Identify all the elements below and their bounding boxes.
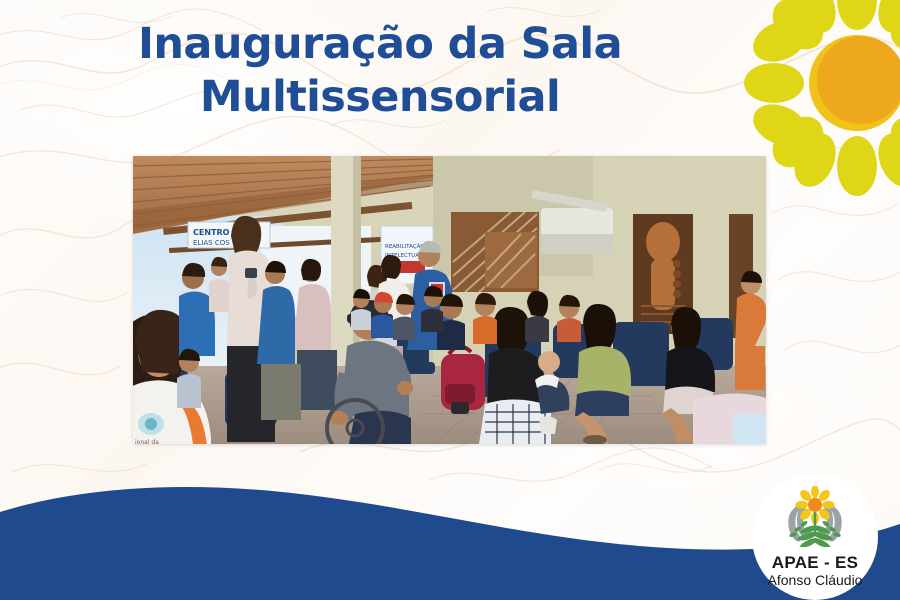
svg-text:ELIAS COS: ELIAS COS <box>193 239 230 247</box>
logo-title: APAE - ES <box>772 553 858 573</box>
poster-canvas: Inauguração da Sala Multissensorial <box>0 0 900 600</box>
backpack <box>441 346 485 414</box>
logo-flower-center <box>808 498 822 512</box>
event-photo: CENTRO D ELIAS COS REABILITAÇÃO INTELECT… <box>133 156 766 444</box>
svg-text:REABILITAÇÃO: REABILITAÇÃO <box>385 243 425 250</box>
person-child-left <box>209 257 229 312</box>
apae-logo: APAE - ES Afonso Cláudio <box>752 474 878 600</box>
page-title: Inauguração da Sala Multissensorial <box>0 18 760 125</box>
person-small-left-bottom <box>177 349 201 408</box>
apae-sunflower-hands-icon <box>775 486 855 552</box>
svg-text:ional da: ional da <box>135 439 159 444</box>
event-photo-illustration: CENTRO D ELIAS COS REABILITAÇÃO INTELECT… <box>133 156 766 444</box>
logo-subtitle: Afonso Cláudio <box>768 573 863 588</box>
title-line-1: Inauguração da Sala <box>0 18 760 71</box>
title-line-2: Multissensorial <box>0 71 760 124</box>
